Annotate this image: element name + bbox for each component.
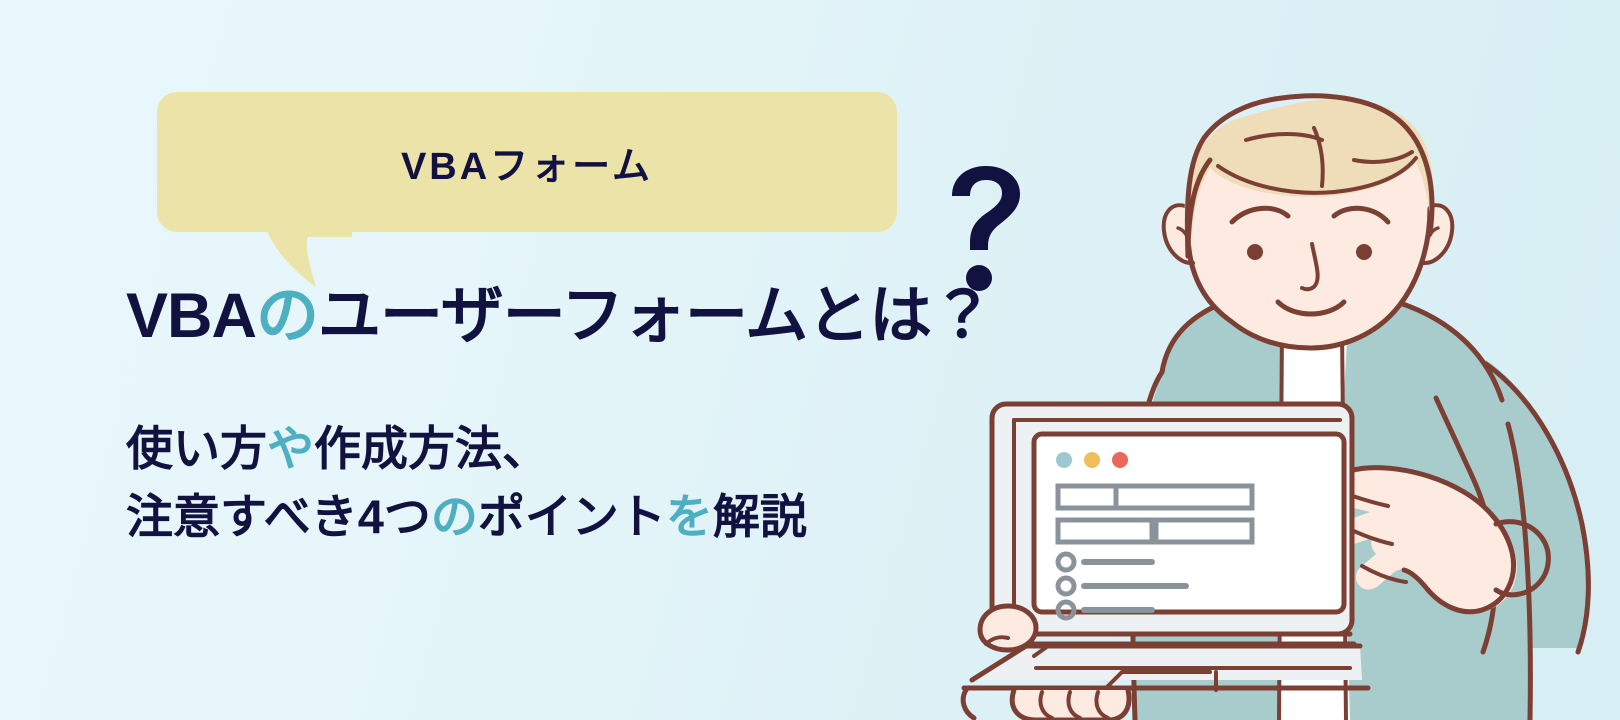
banner-canvas: VBAフォーム VBAのユーザーフォームとは？ 使い方や作成方法、 注意すべき4… bbox=[0, 0, 1620, 720]
page-subtitle: 使い方や作成方法、 注意すべき4つのポイントを解説 bbox=[126, 415, 807, 551]
title-segment-0: VBA bbox=[126, 281, 256, 351]
category-badge-bubble: VBAフォーム bbox=[157, 92, 897, 232]
subtitle-l1-seg-1: や bbox=[267, 422, 314, 475]
laptop-screen bbox=[1034, 434, 1344, 612]
eye-left bbox=[1247, 244, 1263, 260]
title-segment-2: ユーザーフォームとは？ bbox=[318, 281, 993, 351]
window-dot-yellow bbox=[1084, 452, 1100, 468]
question-mark-decor bbox=[952, 166, 1020, 291]
illustration-body bbox=[952, 96, 1588, 720]
window-dot-teal bbox=[1056, 452, 1072, 468]
subtitle-l2-seg-4: 解説 bbox=[713, 490, 807, 543]
subtitle-l1-seg-0: 使い方 bbox=[126, 422, 267, 475]
subtitle-l2-seg-2: ポイント bbox=[478, 490, 666, 543]
subtitle-line-2: 注意すべき4つのポイントを解説 bbox=[126, 483, 807, 551]
subtitle-l2-seg-0: 注意すべき4つ bbox=[126, 490, 431, 543]
subtitle-l1-seg-2: 作成方法、 bbox=[314, 422, 549, 475]
hero-illustration: .ln { fill:none; stroke:#7c3f34; stroke-… bbox=[930, 0, 1620, 720]
subtitle-line-1: 使い方や作成方法、 bbox=[126, 415, 807, 483]
page-title: VBAのユーザーフォームとは？ bbox=[126, 282, 993, 351]
window-dot-red bbox=[1112, 452, 1128, 468]
category-badge-label: VBAフォーム bbox=[401, 135, 653, 190]
title-segment-1: の bbox=[256, 281, 318, 351]
subtitle-l2-seg-1: の bbox=[431, 490, 478, 543]
subtitle-l2-seg-3: を bbox=[666, 490, 713, 543]
eye-right bbox=[1356, 244, 1372, 260]
